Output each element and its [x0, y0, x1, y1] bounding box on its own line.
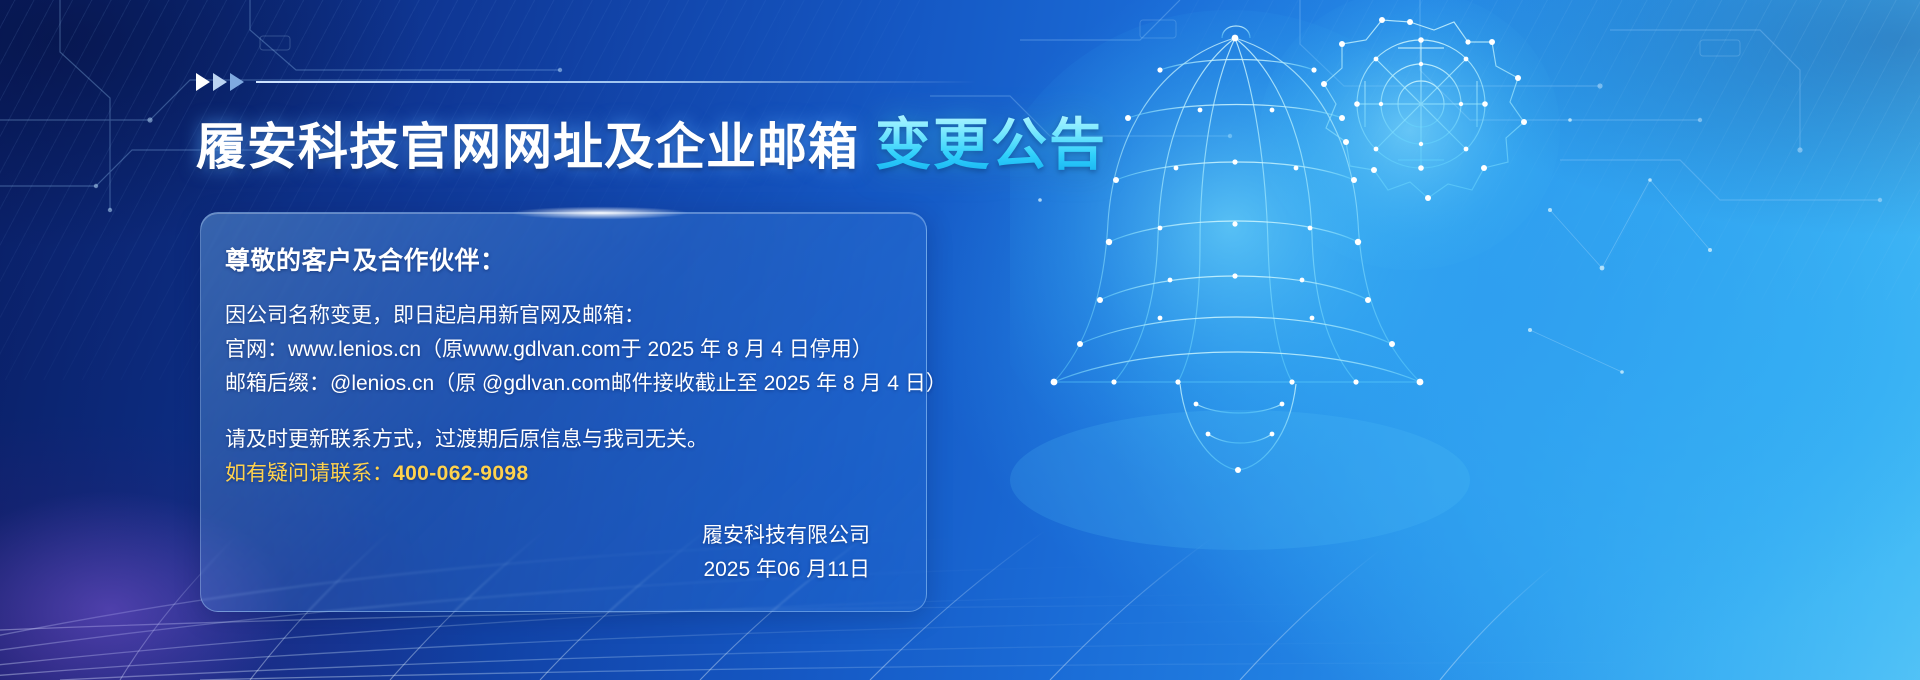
title-main-text: 履安科技官网网址及企业邮箱 [196, 107, 859, 179]
paragraph-spacer [225, 401, 904, 423]
body-lines: 因公司名称变更，即日起启用新官网及邮箱： 官网：www.lenios.cn（原w… [225, 299, 904, 491]
title-rule [256, 81, 976, 83]
play-triangle-icon-2 [213, 73, 227, 91]
contact-phone[interactable]: 400-062-9098 [393, 462, 529, 485]
play-triangle-icon-1 [196, 73, 210, 91]
notice-text: 请及时更新联系方式，过渡期后原信息与我司无关。 [225, 423, 904, 457]
contact-line: 如有疑问请联系：400-062-9098 [225, 457, 904, 491]
signature-block: 履安科技有限公司 2025 年06 月11日 [225, 519, 904, 587]
body-line-2: 官网：www.lenios.cn（原www.gdlvan.com于 2025 年… [225, 333, 904, 367]
title-block: 履安科技官网网址及企业邮箱 变更公告 [196, 72, 1196, 181]
signature-date: 2025 年06 月11日 [225, 553, 870, 587]
signature-company: 履安科技有限公司 [225, 519, 870, 553]
title-accent-text: 变更公告 [875, 100, 1107, 181]
contact-label: 如有疑问请联系： [225, 462, 393, 485]
body-line-3: 邮箱后缀：@lenios.cn（原 @gdlvan.com邮件接收截止至 202… [225, 367, 904, 401]
announcement-card: 尊敬的客户及合作伙伴： 因公司名称变更，即日起启用新官网及邮箱： 官网：www.… [200, 212, 927, 612]
banner-stage: 履安科技官网网址及企业邮箱 变更公告 尊敬的客户及合作伙伴： 因公司名称变更，即… [0, 0, 1920, 680]
play-triangle-icon-3 [230, 73, 244, 91]
page-title: 履安科技官网网址及企业邮箱 变更公告 [196, 100, 1196, 181]
salutation-text: 尊敬的客户及合作伙伴： [225, 241, 904, 277]
body-line-1: 因公司名称变更，即日起启用新官网及邮箱： [225, 299, 904, 333]
title-decoration [196, 72, 1196, 92]
